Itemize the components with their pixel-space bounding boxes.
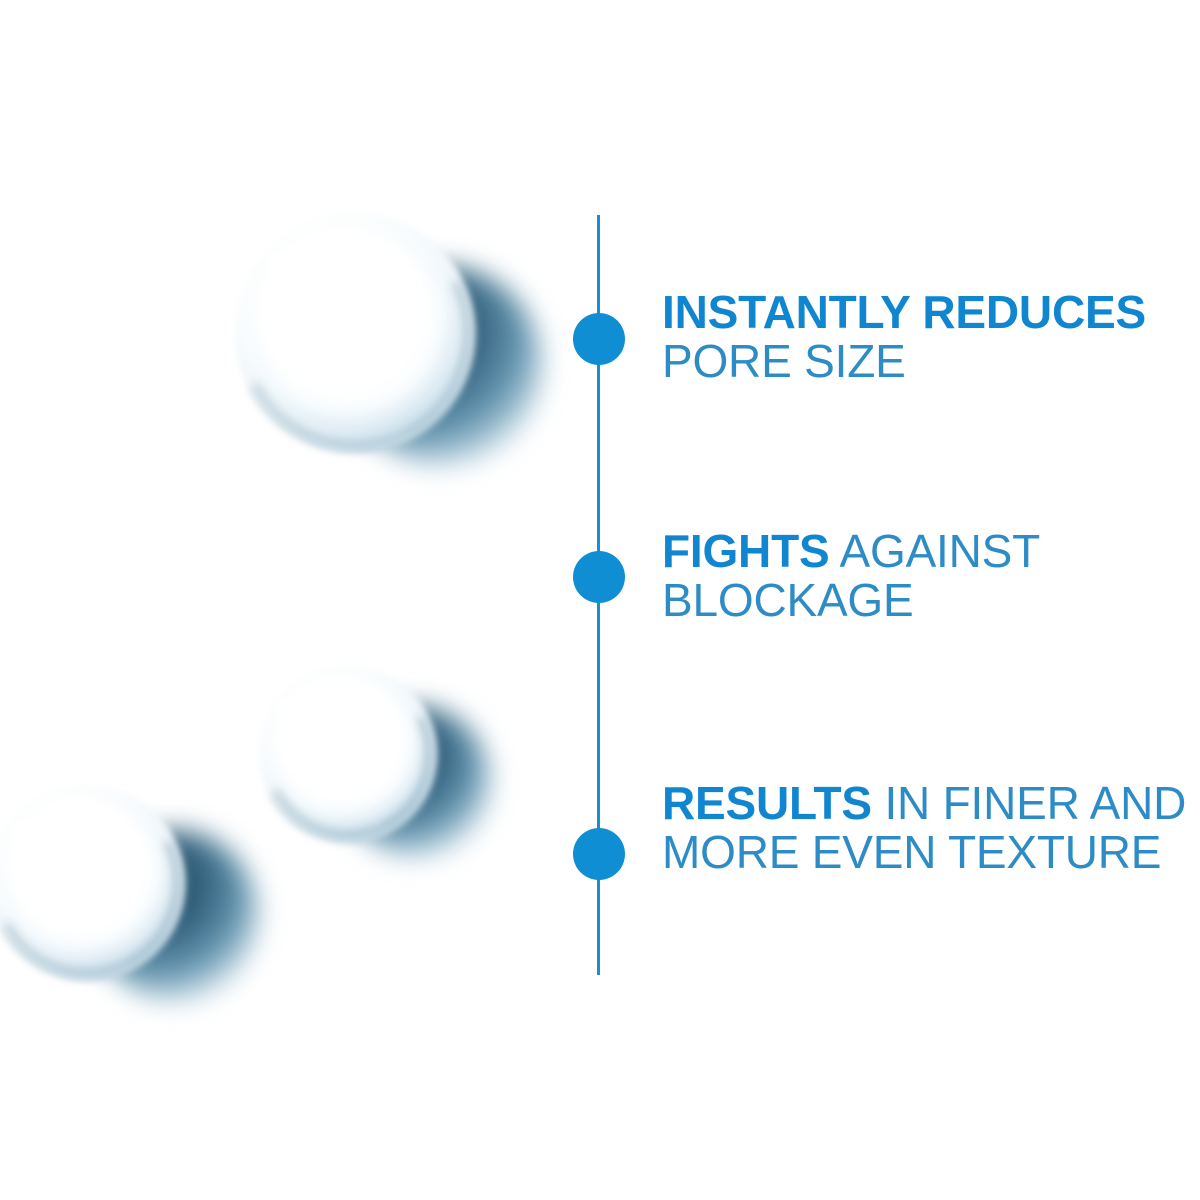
timeline-bullet-2	[573, 551, 625, 603]
benefit-item-2: FIGHTS AGAINST BLOCKAGE	[662, 527, 1190, 625]
timeline-bullet-1	[573, 313, 625, 365]
benefit-item-3: RESULTS IN FINER AND MORE EVEN TEXTURE	[662, 779, 1190, 877]
product-benefits-graphic: INSTANTLY REDUCES PORE SIZE FIGHTS AGAIN…	[0, 0, 1200, 1200]
benefit-item-1: INSTANTLY REDUCES PORE SIZE	[662, 288, 1190, 386]
timeline-bullet-3	[573, 828, 625, 880]
benefit-3-emphasis: RESULTS	[662, 777, 872, 829]
benefit-1-rest: PORE SIZE	[662, 335, 906, 387]
benefit-1-emphasis: INSTANTLY REDUCES	[662, 286, 1146, 338]
benefit-2-emphasis: FIGHTS	[662, 525, 829, 577]
